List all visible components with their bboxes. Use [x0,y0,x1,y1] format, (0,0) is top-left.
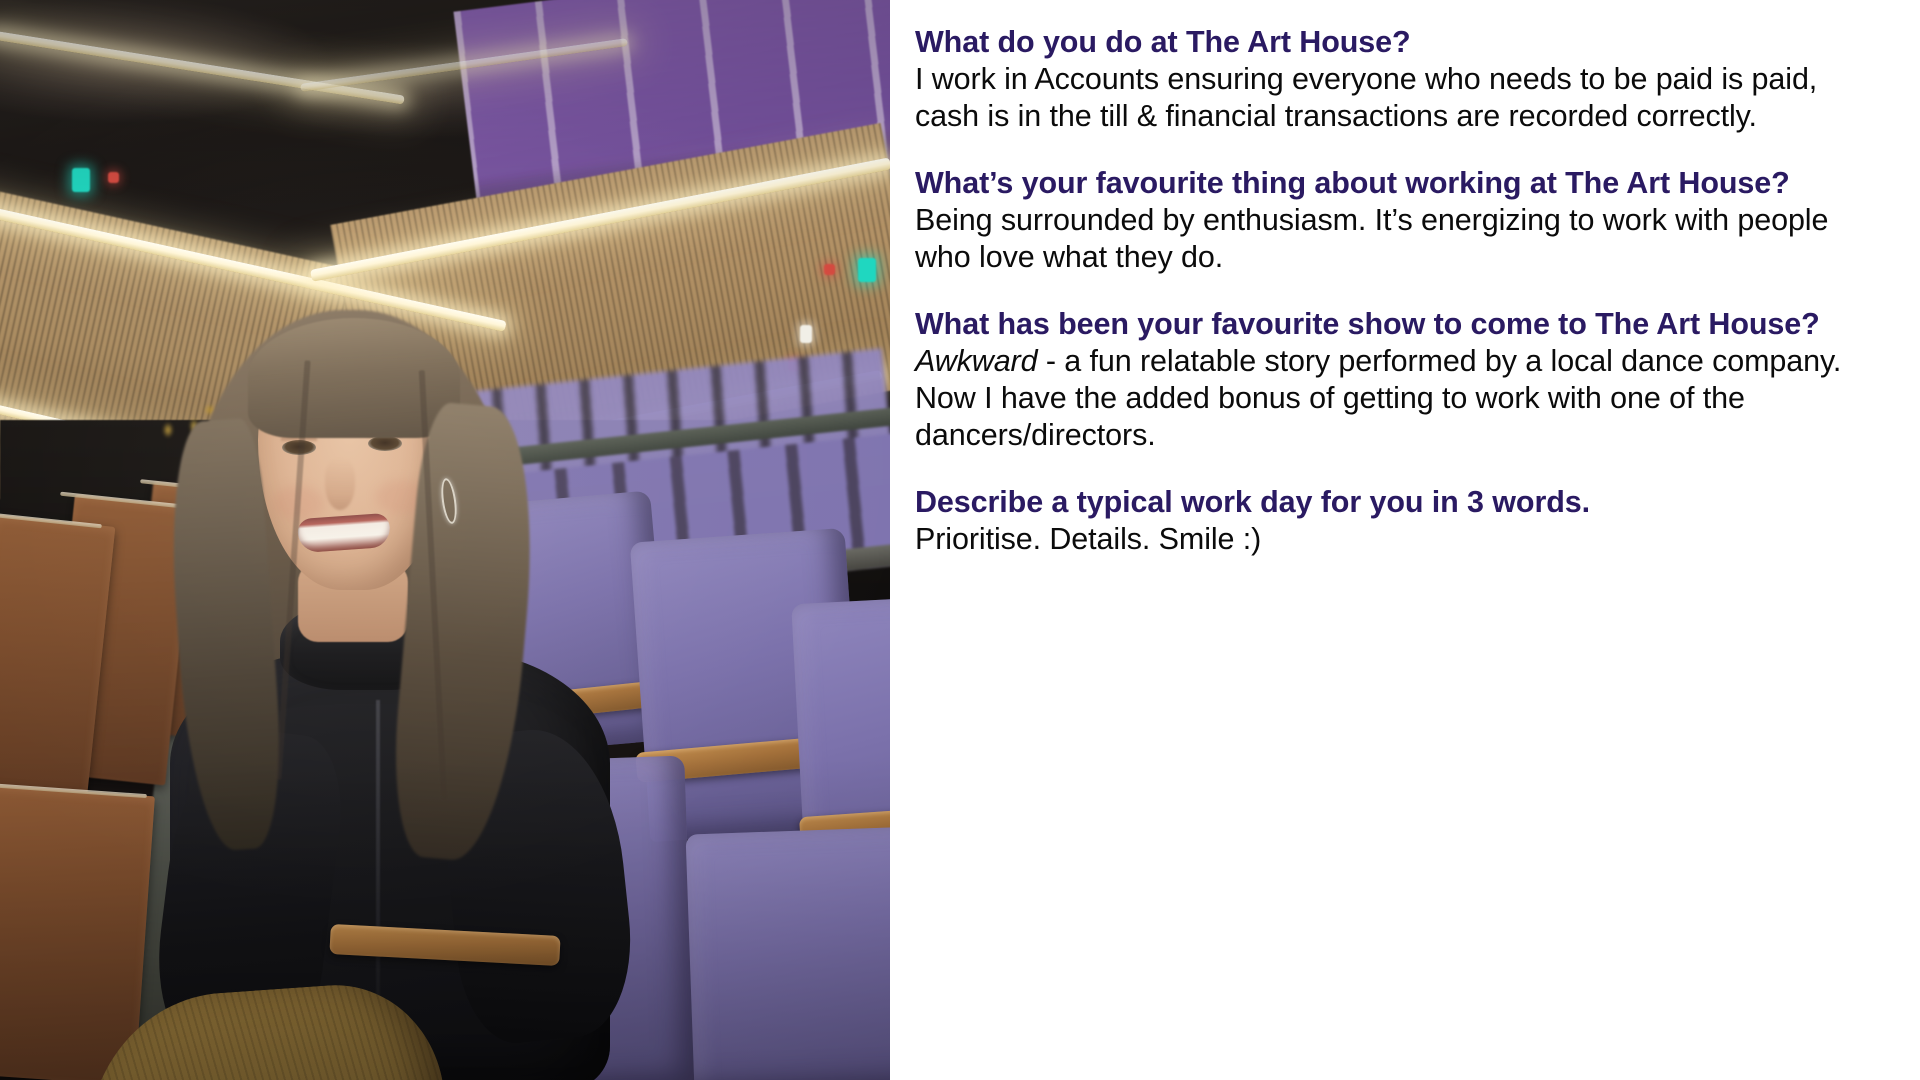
green-indicator-light-2 [858,258,876,282]
answer-2: Being surrounded by enthusiasm. It’s ene… [915,202,1880,276]
qa-block-1: What do you do at The Art House? I work … [915,24,1880,135]
answer-3-rest: - a fun relatable story performed by a l… [915,344,1841,452]
red-indicator-light-2 [824,264,835,275]
nose [325,458,355,510]
question-3: What has been your favourite show to com… [915,306,1880,343]
staff-photo [0,0,890,1080]
answer-3: Awkward - a fun relatable story performe… [915,343,1880,454]
qa-block-3: What has been your favourite show to com… [915,306,1880,454]
qa-text-panel: What do you do at The Art House? I work … [890,0,1920,1080]
wooden-seat-back-1 [0,515,115,826]
eye-right [368,436,402,451]
qa-block-4: Describe a typical work day for you in 3… [915,484,1880,558]
question-2: What’s your favourite thing about workin… [915,165,1880,202]
answer-4: Prioritise. Details. Smile :) [915,521,1880,558]
question-4: Describe a typical work day for you in 3… [915,484,1880,521]
answer-3-show-title: Awkward [915,344,1037,378]
qa-block-2: What’s your favourite thing about workin… [915,165,1880,276]
question-1: What do you do at The Art House? [915,24,1880,61]
staff-member-portrait [130,300,650,1080]
hair-top [248,318,460,438]
slide: What do you do at The Art House? I work … [0,0,1920,1080]
red-indicator-light-1 [108,172,119,183]
theatre-seat-5 [686,826,890,1080]
top-zip [376,700,380,1030]
answer-1: I work in Accounts ensuring everyone who… [915,61,1880,135]
white-indicator-light [800,325,812,343]
green-indicator-light-1 [72,168,90,192]
